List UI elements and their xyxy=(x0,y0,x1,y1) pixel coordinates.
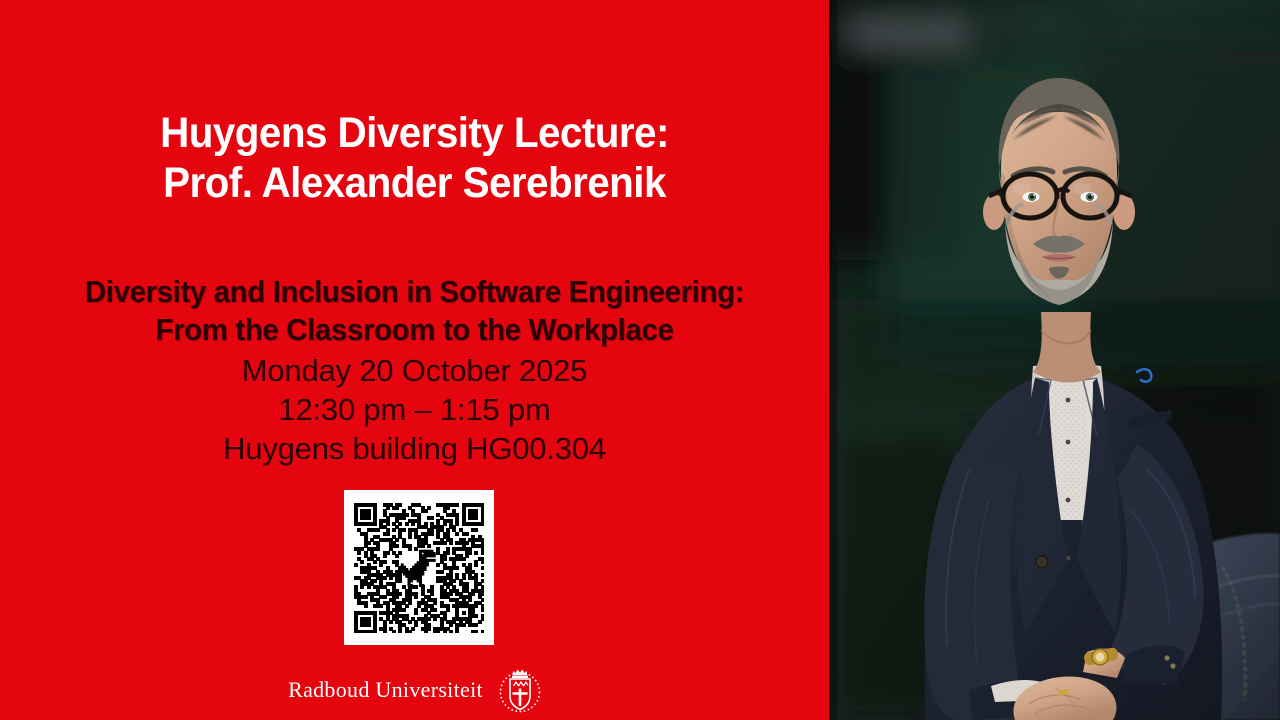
event-details: Monday 20 October 2025 12:30 pm – 1:15 p… xyxy=(0,352,829,468)
page-title: Huygens Diversity Lecture: Prof. Alexand… xyxy=(0,108,829,209)
title-line-1: Huygens Diversity Lecture: xyxy=(25,108,804,158)
event-time: 12:30 pm – 1:15 pm xyxy=(0,391,829,430)
radboud-logo: Radboud Universiteit xyxy=(0,664,829,716)
speaker-portrait-photo xyxy=(829,0,1280,720)
event-date: Monday 20 October 2025 xyxy=(0,352,829,391)
event-location: Huygens building HG00.304 xyxy=(0,430,829,469)
qr-code[interactable] xyxy=(344,490,494,645)
subtitle-line-1: Diversity and Inclusion in Software Engi… xyxy=(21,273,809,311)
lecture-subtitle: Diversity and Inclusion in Software Engi… xyxy=(0,273,829,349)
title-line-2: Prof. Alexander Serebrenik xyxy=(25,158,804,208)
qr-code-icon[interactable] xyxy=(354,503,484,633)
radboud-crest-icon xyxy=(499,664,541,716)
radboud-wordmark: Radboud Universiteit xyxy=(288,677,483,703)
poster-root: Huygens Diversity Lecture: Prof. Alexand… xyxy=(0,0,1280,720)
subtitle-line-2: From the Classroom to the Workplace xyxy=(21,311,809,349)
